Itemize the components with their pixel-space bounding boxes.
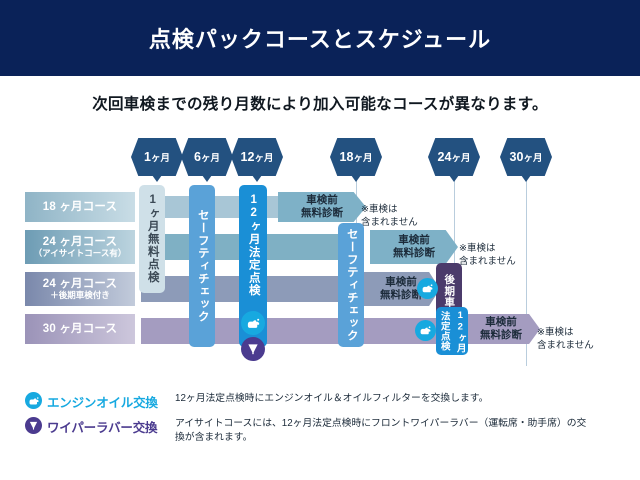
legal-col-left: 法定点検 bbox=[436, 307, 452, 355]
pre-inspection-arrow-row1: 車検前 無料診断 bbox=[278, 192, 366, 222]
row-label-30m: 30 ヶ月コース bbox=[25, 314, 135, 344]
timeline-badge-18m: 18ヶ月 bbox=[330, 138, 382, 176]
row-label-24m-late: 24 ヶ月コース ＋後期車検付き bbox=[25, 272, 135, 306]
timeline-badge-tip-18m bbox=[351, 175, 361, 182]
inspection-schedule-page: 点検パックコースとスケジュール 次回車検までの残り月数により加入可能なコースが異… bbox=[0, 0, 640, 480]
pre-inspection-arrow-row4: 車検前 無料診断 bbox=[462, 314, 540, 344]
timeline-badge-tip-24m bbox=[449, 175, 459, 182]
note-row2: ※車検は含まれません bbox=[459, 231, 516, 268]
row-label-text: 24 ヶ月コース bbox=[43, 278, 118, 291]
legal-col-right: 12ヶ月 bbox=[452, 307, 468, 355]
legend-row-oil: エンジンオイル交換 12ヶ月法定点検時にエンジンオイル＆オイルフィルターを交換し… bbox=[0, 392, 640, 411]
oil-can-icon bbox=[241, 311, 265, 335]
legend: エンジンオイル交換 12ヶ月法定点検時にエンジンオイル＆オイルフィルターを交換し… bbox=[0, 392, 640, 451]
legal-col-left-label: 法定点検 bbox=[439, 311, 449, 351]
timeline-badge-24m: 24ヶ月 bbox=[428, 138, 480, 176]
timeline-badge-tip-30m bbox=[521, 175, 531, 182]
legend-row-wiper: ワイパーラバー交換 アイサイトコースには、12ヶ月法定点検時にフロントワイパーラ… bbox=[0, 417, 640, 445]
row-label-24m-eyesight: 24 ヶ月コース （アイサイトコース有） bbox=[25, 230, 135, 264]
legend-desc: 12ヶ月法定点検時にエンジンオイル＆オイルフィルターを交換します。 bbox=[175, 392, 488, 406]
wiper-blade-icon bbox=[25, 417, 42, 434]
row-label-text: 18 ヶ月コース bbox=[43, 201, 118, 214]
note-row4: ※車検は含まれません bbox=[537, 315, 594, 352]
schedule-chart: 1ヶ月 6ヶ月 12ヶ月 18ヶ月 24ヶ月 30ヶ月 18 ヶ月コース bbox=[0, 130, 640, 380]
timeline-badge-1m: 1ヶ月 bbox=[131, 138, 183, 176]
row-label-sub: （アイサイトコース有） bbox=[34, 249, 127, 258]
pre-inspection-arrow-row2: 車検前 無料診断 bbox=[370, 230, 458, 264]
oil-can-icon bbox=[25, 392, 42, 409]
column-label: 1ヶ月無料点検 bbox=[146, 194, 158, 283]
legend-desc: アイサイトコースには、12ヶ月法定点検時にフロントワイパーラバー（運転席・助手席… bbox=[175, 417, 595, 445]
timeline-badge-tip-12m bbox=[252, 175, 262, 182]
page-title: 点検パックコースとスケジュール bbox=[149, 22, 491, 54]
row-label-sub: ＋後期車検付き bbox=[50, 291, 110, 300]
legal-col-right-label: 12ヶ月 bbox=[455, 310, 465, 353]
oil-can-icon-row4 bbox=[415, 320, 436, 341]
timeline-badge-6m: 6ヶ月 bbox=[181, 138, 233, 176]
timeline-badge-tip-1m bbox=[152, 175, 162, 182]
column-label: セーフティチェック bbox=[345, 228, 357, 342]
oil-can-icon-row3 bbox=[417, 278, 438, 299]
row-label-text: 24 ヶ月コース bbox=[43, 236, 118, 249]
timeline-badge-12m: 12ヶ月 bbox=[231, 138, 283, 176]
page-header: 点検パックコースとスケジュール bbox=[0, 0, 640, 76]
column-18m-safety-check: セーフティチェック bbox=[338, 223, 364, 347]
note-row1: ※車検は含まれません bbox=[361, 192, 418, 229]
column-1m-free-inspection: 1ヶ月無料点検 bbox=[139, 185, 165, 293]
column-12m-legal-inspection-row4: 法定点検 12ヶ月 bbox=[436, 307, 468, 355]
wiper-blade-icon bbox=[241, 337, 265, 361]
timeline-badge-tip-6m bbox=[202, 175, 212, 182]
row-label-text: 30 ヶ月コース bbox=[43, 323, 118, 336]
legend-title: ワイパーラバー交換 bbox=[47, 417, 175, 436]
column-6m-safety-check: セーフティチェック bbox=[189, 185, 215, 347]
page-subtitle: 次回車検までの残り月数により加入可能なコースが異なります。 bbox=[0, 92, 640, 114]
timeline-badge-30m: 30ヶ月 bbox=[500, 138, 552, 176]
column-label: セーフティチェック bbox=[196, 209, 208, 323]
row-label-18m: 18 ヶ月コース bbox=[25, 192, 135, 222]
legend-title: エンジンオイル交換 bbox=[47, 392, 175, 411]
